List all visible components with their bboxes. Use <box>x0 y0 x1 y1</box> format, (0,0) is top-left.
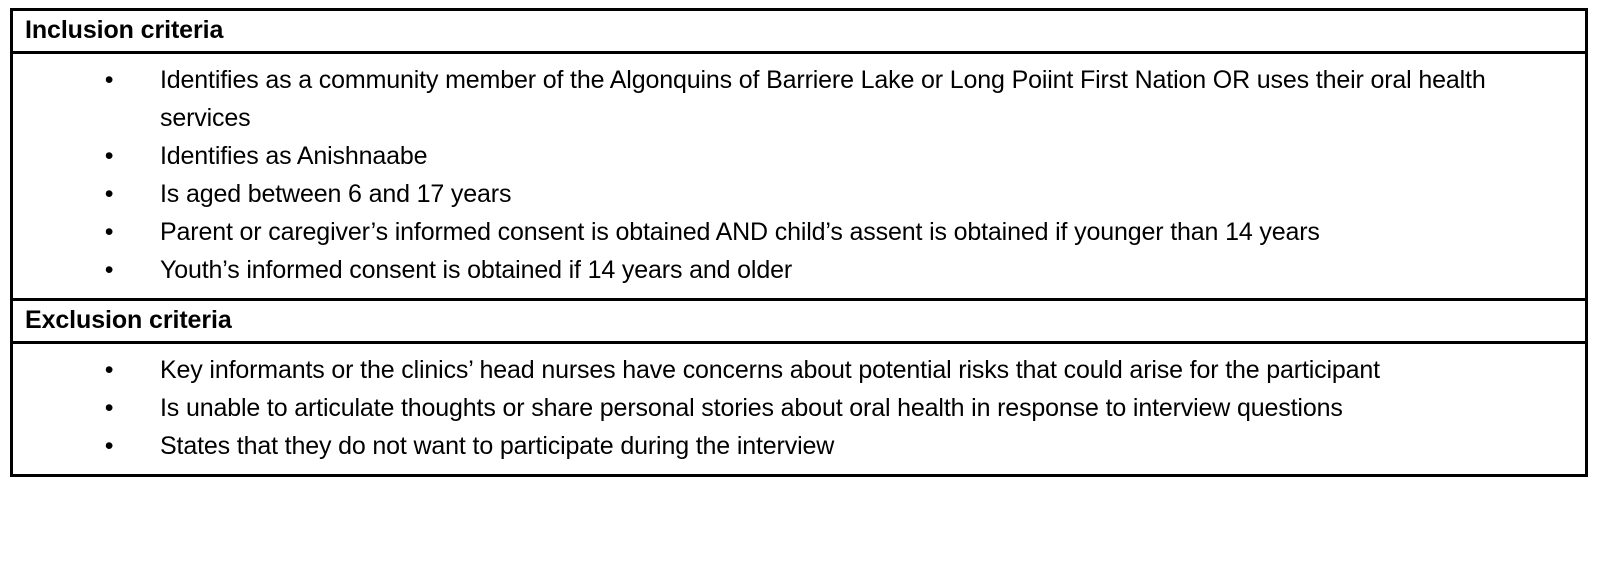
criteria-item-text: Identifies as Anishnaabe <box>160 142 427 170</box>
bullet-icon: • <box>101 351 117 389</box>
list-item: • Is aged between 6 and 17 years <box>13 175 1571 213</box>
list-item: • Key informants or the clinics’ head nu… <box>13 351 1571 389</box>
list-item: • Youth’s informed consent is obtained i… <box>13 251 1571 289</box>
bullet-icon: • <box>101 427 117 465</box>
criteria-table-body: Inclusion criteria • Identifies as a com… <box>13 11 1585 474</box>
criteria-item-text: Parent or caregiver’s informed consent i… <box>160 218 1320 246</box>
inclusion-criteria-list: • Identifies as a community member of th… <box>13 54 1585 298</box>
bullet-icon: • <box>101 137 117 175</box>
bullet-icon: • <box>101 251 117 289</box>
criteria-item-text: Is unable to articulate thoughts or shar… <box>160 394 1343 422</box>
inclusion-criteria-heading: Inclusion criteria <box>25 14 1585 46</box>
exclusion-header-row: Exclusion criteria <box>13 300 1585 343</box>
exclusion-criteria-list: • Key informants or the clinics’ head nu… <box>13 344 1585 474</box>
page-canvas: Inclusion criteria • Identifies as a com… <box>0 0 1600 580</box>
bullet-icon: • <box>101 61 117 99</box>
criteria-item-text: States that they do not want to particip… <box>160 432 834 460</box>
criteria-table-grid: Inclusion criteria • Identifies as a com… <box>13 11 1585 474</box>
criteria-item-text: Key informants or the clinics’ head nurs… <box>160 356 1380 384</box>
bullet-icon: • <box>101 175 117 213</box>
criteria-item-text: Identifies as a community member of the … <box>160 66 1486 132</box>
exclusion-items-row: • Key informants or the clinics’ head nu… <box>13 343 1585 475</box>
criteria-item-text: Youth’s informed consent is obtained if … <box>160 256 792 284</box>
exclusion-items-cell: • Key informants or the clinics’ head nu… <box>13 343 1585 475</box>
inclusion-items-row: • Identifies as a community member of th… <box>13 53 1585 300</box>
criteria-table: Inclusion criteria • Identifies as a com… <box>10 8 1588 477</box>
bullet-icon: • <box>101 389 117 427</box>
list-item: • States that they do not want to partic… <box>13 427 1571 465</box>
criteria-item-text: Is aged between 6 and 17 years <box>160 180 511 208</box>
list-item: • Identifies as a community member of th… <box>13 61 1571 137</box>
list-item: • Identifies as Anishnaabe <box>13 137 1571 175</box>
exclusion-header-cell: Exclusion criteria <box>13 300 1585 343</box>
list-item: • Is unable to articulate thoughts or sh… <box>13 389 1571 427</box>
exclusion-criteria-heading: Exclusion criteria <box>25 304 1585 336</box>
bullet-icon: • <box>101 213 117 251</box>
list-item: • Parent or caregiver’s informed consent… <box>13 213 1571 251</box>
inclusion-header-cell: Inclusion criteria <box>13 11 1585 53</box>
inclusion-items-cell: • Identifies as a community member of th… <box>13 53 1585 300</box>
inclusion-header-row: Inclusion criteria <box>13 11 1585 53</box>
